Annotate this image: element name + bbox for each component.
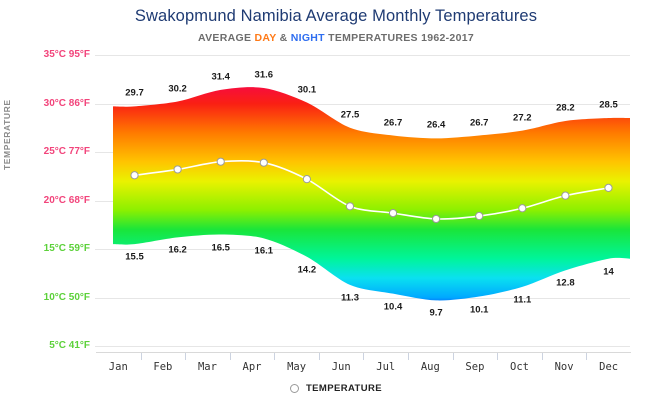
x-axis-month-jul[interactable]: Jul [363,353,408,379]
low-value-label: 11.3 [341,292,359,303]
low-value-label: 14.2 [298,264,317,275]
high-value-label: 30.1 [298,84,317,95]
high-value-label: 26.7 [384,117,403,128]
gridline [95,346,630,347]
temperature-band [113,55,630,346]
data-point-marker[interactable] [605,184,612,191]
data-point-marker[interactable] [519,205,526,212]
low-value-label: 10.4 [384,301,403,312]
high-value-label: 31.6 [255,70,274,81]
y-axis-tick-label: 35°C 95°F [44,50,90,60]
high-value-label: 26.7 [470,117,489,128]
x-axis-months: JanFebMarAprMayJunJulAugSepOctNovDec [96,352,631,379]
high-value-label: 31.4 [211,71,230,82]
low-value-label: 16.1 [255,246,274,257]
low-value-label: 12.8 [556,278,575,289]
data-point-marker[interactable] [174,166,181,173]
chart-subtitle: AVERAGE DAY & NIGHT TEMPERATURES 1962-20… [0,32,672,44]
subtitle-average-text: AVERAGE [198,32,254,44]
subtitle-range-text: TEMPERATURES 1962-2017 [325,32,474,44]
data-point-marker[interactable] [562,192,569,199]
y-axis-tick-label: 5°C 41°F [49,341,90,351]
low-value-label: 16.5 [211,242,230,253]
x-axis-month-nov[interactable]: Nov [542,353,587,379]
subtitle-day-word: DAY [254,32,276,44]
high-value-label: 27.2 [513,112,532,123]
page-title: Swakopmund Namibia Average Monthly Tempe… [0,7,672,26]
x-axis-month-may[interactable]: May [274,353,319,379]
y-axis-tick-label: 30°C 86°F [44,99,90,109]
circle-outline-icon [290,384,299,393]
legend-label: TEMPERATURE [306,383,382,394]
x-axis-month-aug[interactable]: Aug [408,353,453,379]
data-point-marker[interactable] [433,215,440,222]
subtitle-night-word: NIGHT [291,32,325,44]
low-value-label: 10.1 [470,304,489,315]
high-value-label: 30.2 [168,83,187,94]
y-axis-tick-label: 20°C 68°F [44,196,90,206]
data-point-marker[interactable] [476,212,483,219]
low-value-label: 16.2 [168,245,187,256]
y-axis-tick-label: 10°C 50°F [44,293,90,303]
low-value-label: 14 [603,266,614,277]
high-value-label: 27.5 [341,109,360,120]
x-axis-month-dec[interactable]: Dec [586,353,631,379]
y-axis-tick-label: 15°C 59°F [44,244,90,254]
plot-area: 29.730.231.431.630.127.526.726.426.727.2… [113,55,630,346]
x-axis-month-mar[interactable]: Mar [185,353,230,379]
x-axis-month-sep[interactable]: Sep [453,353,498,379]
x-axis-month-oct[interactable]: Oct [497,353,542,379]
data-point-marker[interactable] [131,172,138,179]
data-point-marker[interactable] [303,176,310,183]
high-value-label: 28.5 [599,100,618,111]
high-value-label: 26.4 [427,120,446,131]
x-axis-month-feb[interactable]: Feb [141,353,186,379]
chart-legend: TEMPERATURE [0,383,672,394]
low-value-label: 15.5 [125,252,144,263]
data-point-marker[interactable] [389,210,396,217]
data-point-marker[interactable] [217,158,224,165]
x-axis-month-jan[interactable]: Jan [96,353,141,379]
data-point-marker[interactable] [346,203,353,210]
temperature-chart: Swakopmund Namibia Average Monthly Tempe… [0,0,672,414]
y-axis-tick-label: 25°C 77°F [44,147,90,157]
data-point-marker[interactable] [260,159,267,166]
high-value-label: 29.7 [125,88,144,99]
y-axis-ticks: 35°C 95°F30°C 86°F25°C 77°F20°C 68°F15°C… [0,55,90,346]
low-value-label: 9.7 [429,308,442,319]
low-value-label: 11.1 [513,294,531,305]
x-axis-month-jun[interactable]: Jun [319,353,364,379]
subtitle-ampersand: & [276,32,290,44]
high-value-label: 28.2 [556,103,575,114]
x-axis-month-apr[interactable]: Apr [230,353,275,379]
